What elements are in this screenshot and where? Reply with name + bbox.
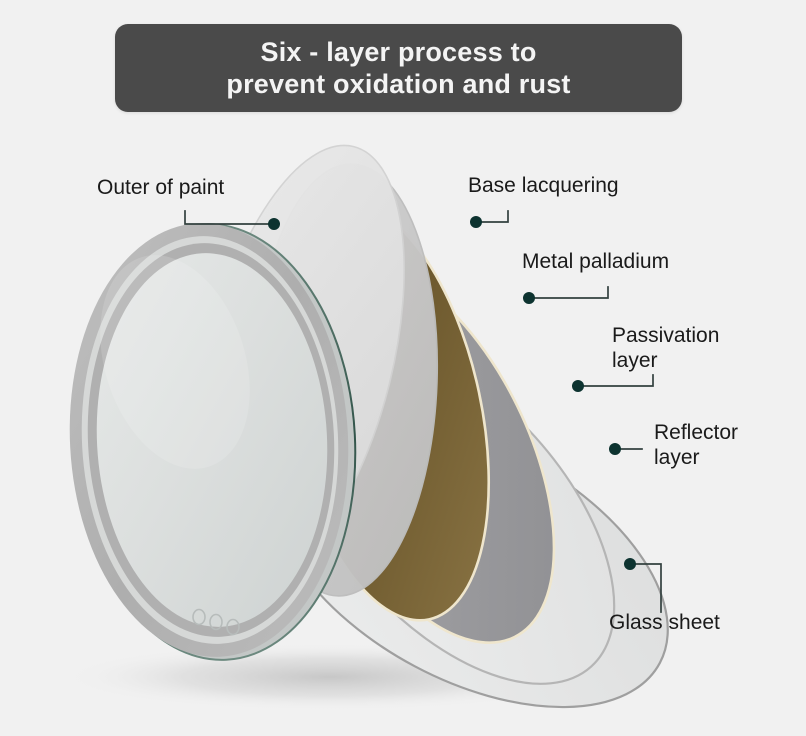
callout-dot-base-lacquering: [470, 216, 482, 228]
callout-dot-metal-palladium: [523, 292, 535, 304]
callout-dot-reflector-layer: [609, 443, 621, 455]
leader-line-base-lacquering: [478, 211, 508, 222]
leader-line-metal-palladium: [531, 287, 608, 298]
callout-dot-glass-sheet: [624, 558, 636, 570]
callout-dot-passivation-layer: [572, 380, 584, 392]
leader-line-passivation-layer: [580, 375, 653, 386]
title-line-2: prevent oxidation and rust: [226, 68, 570, 100]
callout-label-outer-of-paint: Outer of paint: [97, 175, 224, 200]
callout-label-reflector-layer: Reflector layer: [654, 420, 738, 470]
callout-label-glass-sheet: Glass sheet: [609, 610, 720, 635]
title-line-1: Six - layer process to: [260, 36, 536, 68]
illustration-page: Six - layer process to prevent oxidation…: [0, 0, 806, 736]
title-banner: Six - layer process to prevent oxidation…: [115, 24, 682, 112]
callout-label-passivation-layer: Passivation layer: [612, 323, 719, 373]
callout-dot-outer-of-paint: [268, 218, 280, 230]
callout-label-metal-palladium: Metal palladium: [522, 249, 669, 274]
callout-label-base-lacquering: Base lacquering: [468, 173, 619, 198]
